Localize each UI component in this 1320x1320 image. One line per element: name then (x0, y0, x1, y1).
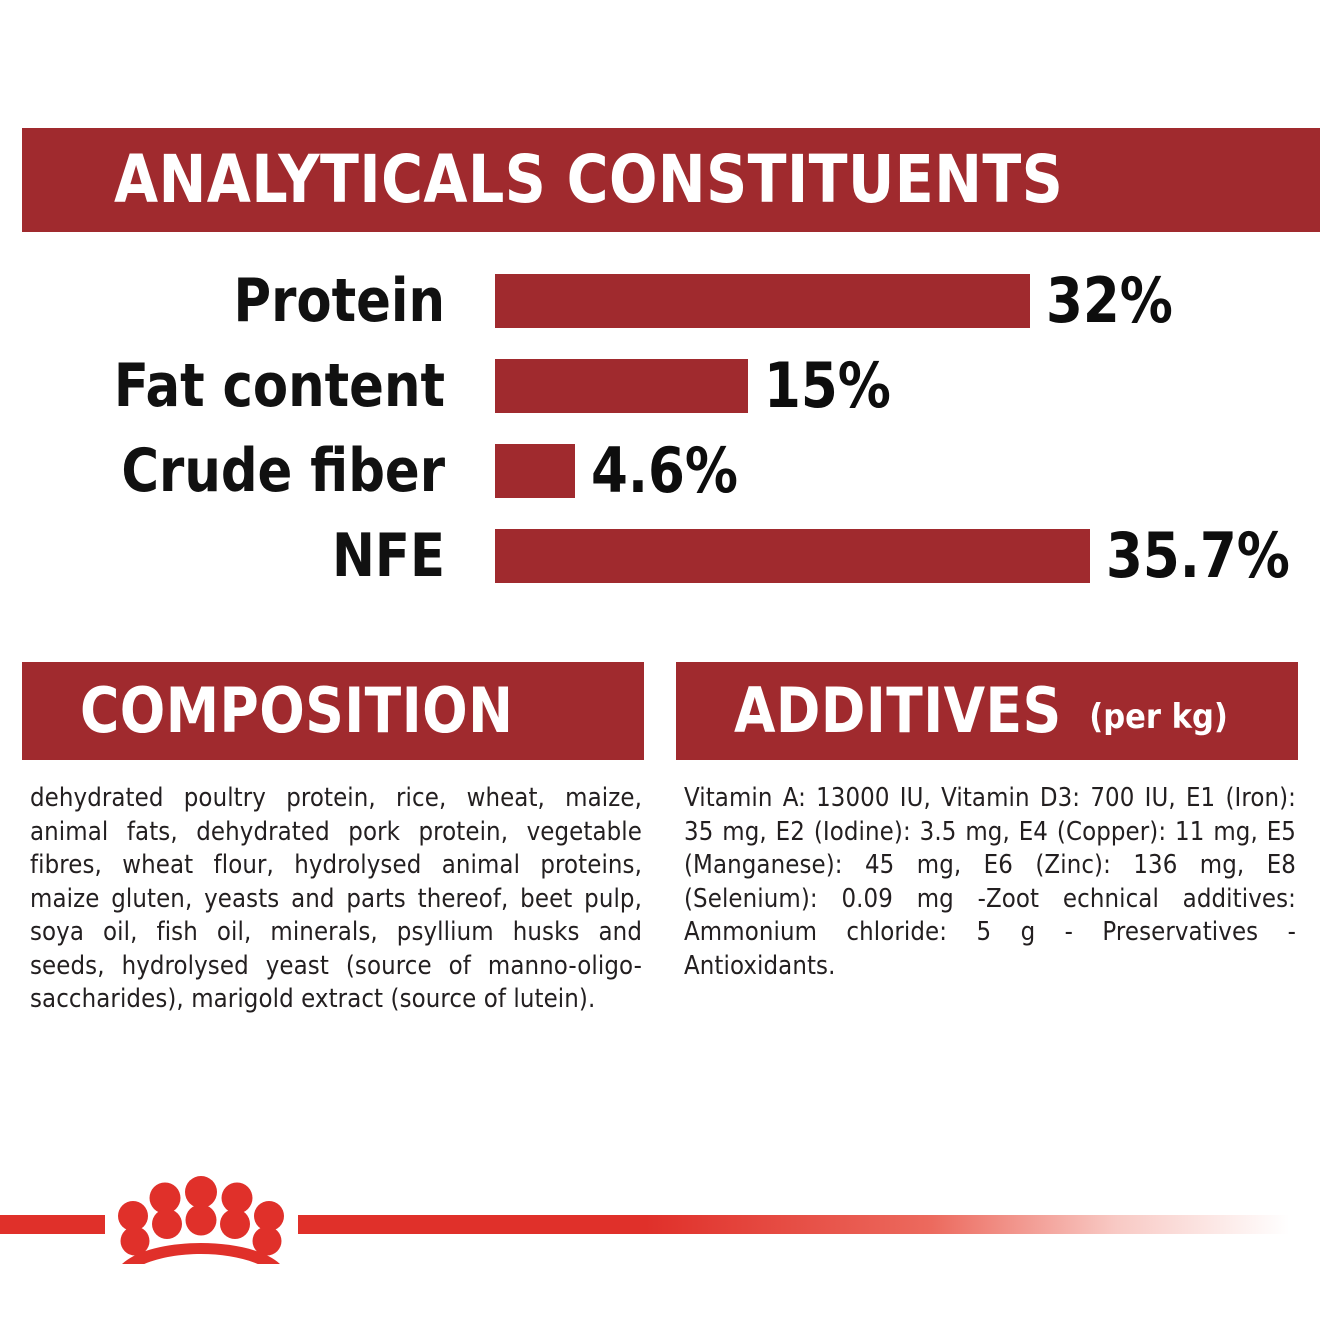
additives-body: Vitamin A: 13000 IU, Vitamin D3: 700 IU,… (676, 782, 1298, 983)
chart-bar-wrap-protein: 32% (495, 270, 1320, 332)
chart-bar-wrap-crude-fiber: 4.6% (495, 440, 1320, 502)
chart-bar-wrap-nfe: 35.7% (495, 525, 1320, 587)
additives-section: ADDITIVES (per kg) Vitamin A: 13000 IU, … (676, 662, 1298, 1017)
composition-header: COMPOSITION (22, 662, 644, 760)
chart-label-fat-content: Fat content (22, 356, 445, 416)
chart-bar-protein (495, 274, 1030, 328)
analyticals-bar-chart: Protein 32% Fat content 15% Crude fiber … (0, 258, 1320, 598)
chart-row-protein: Protein 32% (0, 258, 1320, 343)
chart-value-fat-content: 15% (764, 355, 891, 417)
chart-label-protein: Protein (22, 271, 445, 331)
chart-bar-wrap-fat-content: 15% (495, 355, 1320, 417)
composition-section: COMPOSITION dehydrated poultry protein, … (22, 662, 644, 1017)
royal-canin-crown-logo (110, 1168, 292, 1264)
chart-bar-nfe (495, 529, 1090, 583)
analyticals-constituents-banner: ANALYTICALS CONSTITUENTS (22, 128, 1320, 232)
chart-value-nfe: 35.7% (1106, 525, 1290, 587)
footer-rule-right (298, 1215, 1320, 1234)
additives-header-label: ADDITIVES (734, 680, 1062, 742)
chart-row-nfe: NFE 35.7% (0, 513, 1320, 598)
chart-value-protein: 32% (1046, 270, 1173, 332)
page-title: ANALYTICALS CONSTITUENTS (114, 147, 1063, 213)
chart-label-nfe: NFE (22, 526, 445, 586)
chart-row-crude-fiber: Crude fiber 4.6% (0, 428, 1320, 513)
footer (0, 1158, 1320, 1268)
chart-bar-crude-fiber (495, 444, 575, 498)
additives-header-unit: (per kg) (1089, 700, 1228, 734)
info-columns: COMPOSITION dehydrated poultry protein, … (22, 662, 1298, 1017)
composition-header-label: COMPOSITION (80, 680, 513, 742)
footer-rule-left (0, 1215, 105, 1234)
chart-row-fat-content: Fat content 15% (0, 343, 1320, 428)
chart-bar-fat-content (495, 359, 748, 413)
chart-value-crude-fiber: 4.6% (591, 440, 738, 502)
chart-label-crude-fiber: Crude fiber (22, 441, 445, 501)
composition-body: dehydrated poultry protein, rice, wheat,… (22, 782, 644, 1017)
additives-header: ADDITIVES (per kg) (676, 662, 1298, 760)
